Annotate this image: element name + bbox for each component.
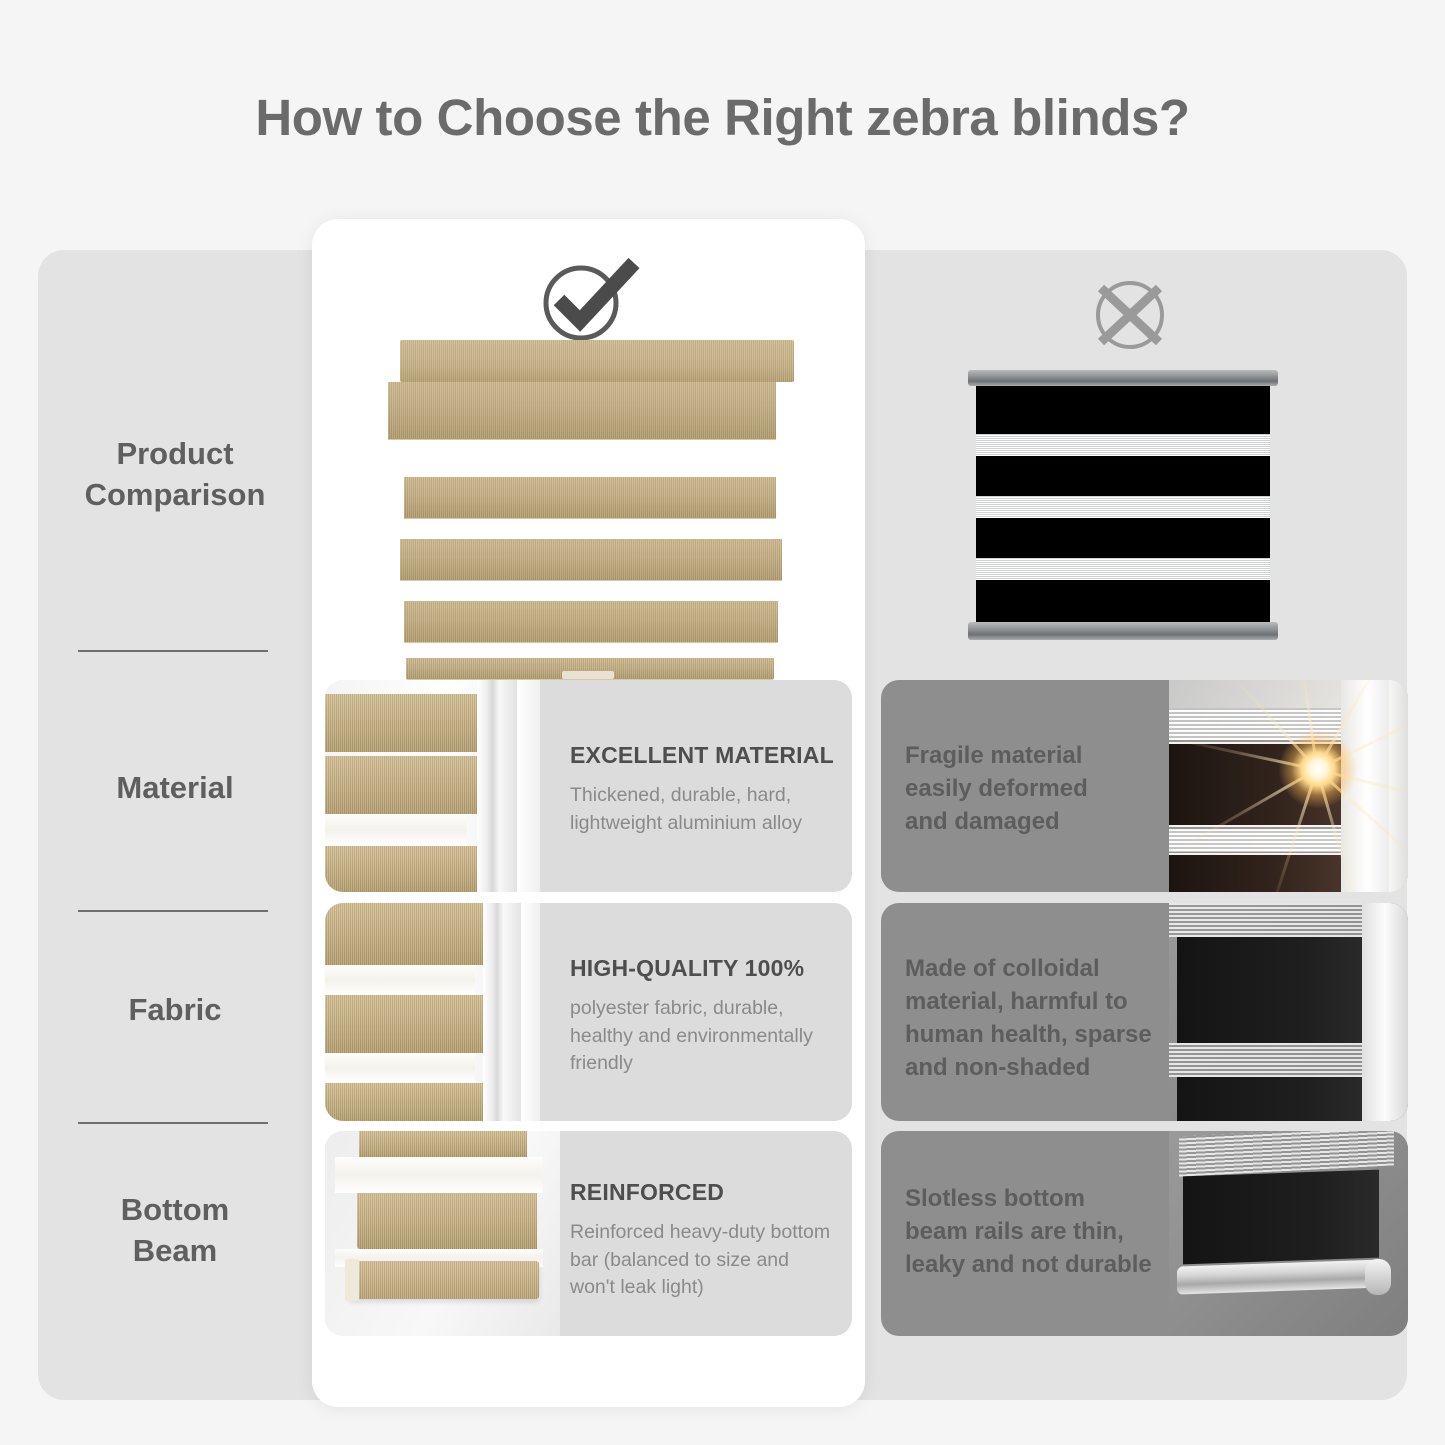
feature-card-material-bad: Fragile material easily deformed and dam…	[881, 680, 1408, 892]
feature-text-material-bad: Fragile material easily deformed and dam…	[905, 740, 1195, 839]
feature-body-fabric-good: polyester fabric, durable, healthy and e…	[570, 995, 845, 1078]
check-circle-icon	[533, 255, 643, 345]
photo-fabric-good	[325, 903, 540, 1121]
feature-body-material-good: Thickened, durable, hard, lightweight al…	[570, 782, 840, 837]
sidebar-label-product-comparison: Product Comparison	[38, 434, 312, 516]
feature-title-fabric-good: HIGH-QUALITY 100%	[570, 955, 845, 982]
cross-circle-icon	[1085, 268, 1175, 358]
sidebar-divider-1	[78, 650, 268, 652]
category-sidebar: Product Comparison Material Fabric Botto…	[38, 250, 312, 1400]
infographic-canvas: How to Choose the Right zebra blinds? Pr…	[0, 0, 1445, 1445]
photo-bottom-beam-bad	[1169, 1131, 1408, 1336]
feature-card-bottom-beam-bad: Slotless bottom beam rails are thin, lea…	[881, 1131, 1408, 1336]
feature-card-bottom-beam-good: REINFORCED Reinforced heavy-duty bottom …	[325, 1131, 852, 1336]
feature-card-fabric-good: HIGH-QUALITY 100% polyester fabric, dura…	[325, 903, 852, 1121]
feature-title-material-good: EXCELLENT MATERIAL	[570, 742, 840, 769]
feature-title-bottom-beam-good: REINFORCED	[570, 1179, 850, 1206]
feature-text-fabric-bad: Made of colloidal material, harmful to h…	[905, 953, 1205, 1085]
product-image-recommended-blind	[382, 340, 794, 670]
page-title: How to Choose the Right zebra blinds?	[0, 88, 1445, 147]
sidebar-divider-2	[78, 910, 268, 912]
photo-fabric-bad	[1169, 903, 1408, 1121]
sidebar-label-fabric: Fabric	[38, 990, 312, 1031]
sidebar-label-bottom-beam: Bottom Beam	[38, 1190, 312, 1272]
feature-body-bottom-beam-good: Reinforced heavy-duty bottom bar (balanc…	[570, 1219, 850, 1302]
photo-material-bad	[1169, 680, 1408, 892]
feature-card-fabric-bad: Made of colloidal material, harmful to h…	[881, 903, 1408, 1121]
feature-card-material-good: EXCELLENT MATERIAL Thickened, durable, h…	[325, 680, 852, 892]
photo-bottom-beam-good	[325, 1131, 560, 1336]
feature-text-bottom-beam-bad: Slotless bottom beam rails are thin, lea…	[905, 1183, 1205, 1282]
photo-material-good	[325, 680, 540, 892]
sidebar-divider-3	[78, 1122, 268, 1124]
product-image-not-recommended-blind	[968, 368, 1278, 642]
sidebar-label-material: Material	[38, 768, 312, 809]
